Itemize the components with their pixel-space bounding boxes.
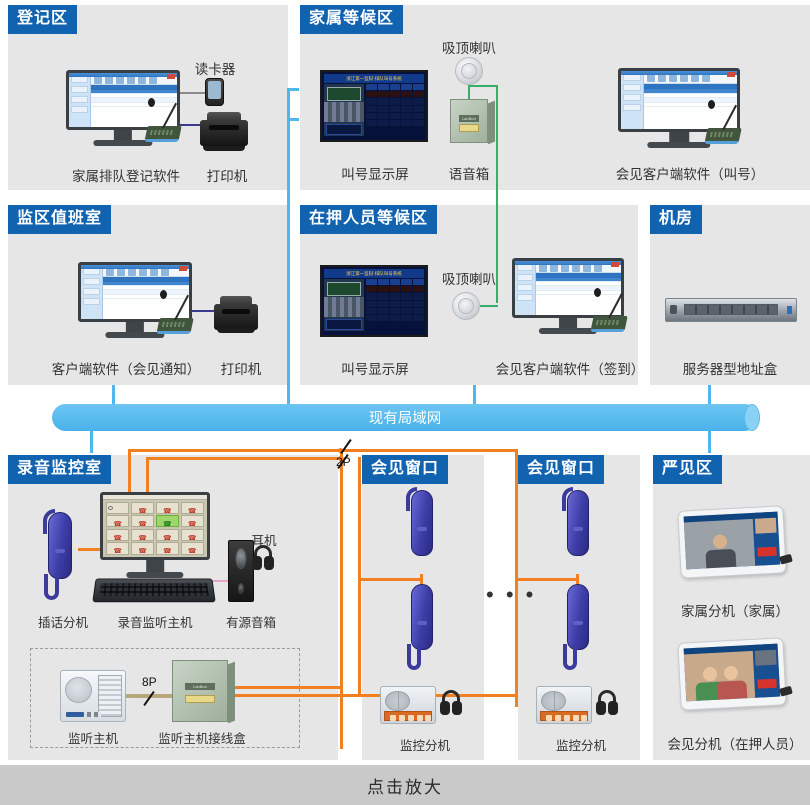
monitor-screen: ☎ ☎ ☎ ☎ ☎ ☎ ☎ ☎ ☎ ☎ ☎ ☎ ☎ ☎ ☎ — [100, 492, 210, 560]
lan-backbone-label: 现有局域网 — [369, 407, 442, 428]
printer-slot — [209, 125, 240, 130]
software-sidebar — [81, 265, 103, 319]
video-person-detainee — [704, 534, 736, 569]
caption-rack-server-address-box: 服务器型地址盒 — [660, 358, 800, 378]
phone-hook-bottom — [407, 644, 421, 669]
tablet-frame — [677, 637, 786, 710]
repeat-ellipsis: • • • — [486, 582, 536, 608]
device-desk-microphone — [592, 290, 634, 332]
recording-host-toolbar — [103, 495, 207, 500]
caption-headphone: 耳机 — [240, 530, 288, 549]
software-titlebar — [621, 71, 737, 75]
channel-tile: ☎ — [156, 542, 179, 554]
lan-link-family-waiting — [112, 385, 115, 406]
microphone-head — [160, 290, 167, 299]
video-person-family — [715, 665, 747, 700]
device-headphone-w2 — [596, 690, 618, 716]
table-row — [366, 98, 424, 104]
microphone-arm — [722, 105, 737, 131]
table-row — [366, 120, 424, 126]
channel-tile: ☎ — [131, 529, 154, 541]
table-row — [366, 293, 424, 299]
caption-call-display-detainee: 叫号显示屏 — [330, 358, 420, 378]
audio-wire-w2-feed — [515, 578, 579, 581]
channel-tile: ☎ — [181, 542, 204, 554]
caption-client-software-visit-notice: 客户端软件（会见通知） — [36, 358, 216, 378]
device-visit-extension-tablet — [677, 637, 786, 710]
monitor-base — [647, 142, 710, 148]
zone-title-family-waiting: 家属等候区 — [300, 5, 403, 34]
phone-body — [567, 490, 589, 556]
monitoring-host-dial — [65, 677, 92, 703]
server-handle — [670, 305, 677, 314]
device-visit-phone-upper-w1 — [405, 490, 439, 574]
channel-tile: ☎ — [156, 529, 179, 541]
intercom-control-panel — [540, 711, 588, 720]
device-call-display-family: 浙江第一监狱-排队叫号系统 — [320, 70, 428, 142]
device-headphone-w1 — [440, 690, 462, 716]
wire-speaker-family-drop — [468, 85, 470, 99]
audio-wire-w1-feed — [358, 578, 422, 581]
microphone-arm — [608, 293, 623, 319]
software-sidebar — [621, 71, 644, 129]
monitor-neck — [146, 560, 164, 572]
caption-voice-box: 语音箱 — [434, 163, 504, 183]
call-display-queue-table — [366, 84, 424, 136]
lan-drop-recording-room — [90, 431, 93, 453]
audio-bus-top-b — [146, 457, 342, 460]
table-row — [366, 315, 424, 321]
device-ceiling-speaker-family — [455, 57, 483, 85]
monitor-neck — [669, 132, 689, 142]
intercom-body — [380, 686, 436, 724]
software-titlebar — [81, 265, 189, 269]
software-titlebar — [69, 73, 177, 77]
hangup-button[interactable] — [757, 547, 777, 556]
channel-tile: ☎ — [156, 502, 179, 514]
caption-monitoring-host: 监听主机 — [58, 728, 128, 747]
caption-ceiling-speaker-family: 吸顶喇叭 — [428, 37, 510, 57]
channel-tile: ☎ — [106, 529, 129, 541]
device-voice-box: LanBon — [450, 99, 488, 143]
keyboard-body — [92, 578, 215, 602]
device-call-display-detainee: 浙江第一监狱-排队叫号系统 — [320, 265, 428, 337]
voice-box-face: LanBon — [450, 99, 488, 143]
channel-tile — [106, 502, 129, 514]
audio-run-junction-out — [226, 694, 518, 697]
microphone-head — [148, 98, 155, 107]
zone-title-ward-duty-room: 监区值班室 — [8, 205, 111, 234]
printer-slot — [222, 309, 250, 314]
tablet-sidebar — [753, 644, 780, 698]
channel-tile: ☎ — [181, 502, 204, 514]
voice-box-side — [488, 101, 495, 145]
lan-link-duty-room-drop — [287, 176, 290, 406]
printer-foot — [217, 328, 256, 333]
caption-visit-extension-tablet: 会见分机（在押人员） — [657, 733, 810, 753]
device-visit-phone-lower-w1 — [405, 584, 439, 668]
audio-bus-top-a — [128, 449, 342, 452]
headphone-earcup-right — [264, 556, 274, 570]
device-printer-duty-room — [214, 296, 258, 330]
wire-speaker-family-run — [468, 85, 498, 87]
caption-intercom-wall-phone: 插话分机 — [28, 612, 98, 631]
device-monitoring-host — [60, 670, 126, 722]
device-intercom-wall-phone — [42, 512, 78, 598]
device-printer-registration — [200, 112, 248, 148]
call-display-video-panel — [324, 84, 364, 136]
caption-monitor-extension-w1: 监控分机 — [390, 735, 460, 754]
printer-foot — [203, 146, 245, 151]
speaker-outer — [452, 292, 480, 320]
channel-tile: ☎ — [181, 515, 204, 527]
card-reader-body — [205, 78, 224, 106]
call-display-header: 浙江第一监狱-排队叫号系统 — [324, 74, 424, 83]
monitoring-host-body — [60, 670, 126, 722]
call-display-video-panel — [324, 279, 364, 331]
lan-drop-strict-visit — [708, 431, 711, 453]
caption-printer-registration: 打印机 — [198, 165, 256, 185]
call-display-header: 浙江第一监狱-排队叫号系统 — [324, 269, 424, 278]
audio-run-junction-out2 — [226, 686, 340, 689]
zone-title-detainee-waiting: 在押人员等候区 — [300, 205, 437, 234]
caption-call-display-family: 叫号显示屏 — [330, 163, 420, 183]
speaker-woofer — [238, 583, 244, 594]
table-row — [366, 286, 424, 292]
phone-body — [411, 490, 433, 556]
device-recording-monitor-host: ☎ ☎ ☎ ☎ ☎ ☎ ☎ ☎ ☎ ☎ ☎ ☎ ☎ ☎ ☎ — [100, 492, 210, 580]
lan-bar-endcap — [744, 404, 760, 431]
device-visit-phone-lower-w2 — [561, 584, 595, 668]
headphone-earcup-left — [596, 701, 606, 715]
intercom-grill — [385, 691, 410, 711]
device-monitor-extension-w1 — [380, 686, 436, 724]
lan-link-registration-stub — [287, 88, 299, 91]
topology-diagram: 登记区 家属排队登记软件 读卡器 — [0, 0, 810, 805]
monitor-base — [539, 328, 597, 334]
software-titlebar — [515, 261, 621, 265]
monitoring-host-indicator — [66, 712, 84, 717]
printer-body — [200, 120, 248, 146]
caption-printer-duty-room: 打印机 — [212, 358, 270, 378]
headphone-earcup-left — [440, 701, 450, 715]
tablet-frame — [677, 505, 786, 578]
intercom-body — [536, 686, 592, 724]
junction-box-logo: LanBon — [185, 683, 215, 690]
table-header-row — [366, 279, 424, 285]
software-sidebar — [515, 261, 536, 315]
device-card-reader — [205, 78, 224, 106]
intercom-grill — [541, 691, 566, 711]
powered-speaker-body — [228, 540, 254, 602]
call-display-body — [324, 279, 424, 331]
table-row — [366, 308, 424, 314]
click-to-zoom-label: 点击放大 — [367, 773, 443, 798]
speaker-tweeter — [235, 548, 246, 568]
lan-backbone-bar: 现有局域网 — [52, 404, 758, 431]
software-sidebar — [69, 73, 91, 127]
monitor-base — [93, 140, 152, 146]
device-visit-phone-upper-w2 — [561, 490, 595, 574]
speaker-outer — [455, 57, 483, 85]
device-desk-microphone — [146, 100, 188, 142]
device-family-extension-tablet — [677, 505, 786, 578]
microphone-head — [708, 100, 715, 109]
audio-run-top-to-window2 — [340, 449, 518, 452]
table-row — [366, 301, 424, 307]
click-to-zoom-bar[interactable]: 点击放大 — [0, 765, 810, 805]
call-display-queue-table — [366, 279, 424, 331]
monitoring-host-buttons — [87, 712, 101, 717]
headphone-earcup-right — [452, 701, 462, 715]
tablet-sidebar — [753, 512, 780, 566]
monitor-neck — [559, 318, 577, 328]
table-row — [366, 113, 424, 119]
intercom-control-panel — [384, 711, 432, 720]
audio-run-down-window1b — [358, 457, 361, 697]
recording-host-channel-grid: ☎ ☎ ☎ ☎ ☎ ☎ ☎ ☎ ☎ ☎ ☎ ☎ ☎ ☎ ☎ — [106, 502, 204, 555]
zone-title-registration: 登记区 — [8, 5, 77, 34]
tablet-screen — [684, 644, 780, 702]
channel-tile: ☎ — [181, 529, 204, 541]
voice-box-label — [459, 124, 479, 132]
caption-visit-client-software-calling: 会见客户端软件（叫号） — [600, 163, 780, 183]
speaker-inner — [458, 298, 474, 314]
lan-link-registration-vertical — [287, 88, 290, 176]
zone-title-recording-control-room: 录音监控室 — [8, 455, 111, 484]
device-keyboard — [94, 578, 214, 602]
caption-monitor-extension-w2: 监控分机 — [546, 735, 616, 754]
device-powered-speaker — [228, 540, 254, 602]
caption-ceiling-speaker-detainee: 吸顶喇叭 — [428, 268, 510, 288]
lan-link-server-room-drop — [708, 385, 711, 406]
channel-tile: ☎ — [131, 542, 154, 554]
table-row — [366, 91, 424, 97]
zone-title-visit-window-2: 会见窗口 — [518, 455, 604, 484]
keyboard-keys — [99, 583, 209, 596]
junction-box-side — [228, 662, 235, 724]
cable-label-8p: 8P — [142, 675, 157, 689]
device-monitor-extension-w2 — [536, 686, 592, 724]
phone-hook-bottom — [44, 574, 58, 600]
server-face — [665, 298, 797, 322]
zone-title-visit-window-1: 会见窗口 — [362, 455, 448, 484]
wire-monitor-to-card-reader — [180, 92, 206, 94]
printer-body — [214, 304, 258, 330]
zone-title-strict-visit-area: 严见区 — [653, 455, 722, 484]
server-drive-bays — [684, 304, 778, 315]
channel-tile: ☎ — [106, 542, 129, 554]
channel-tile: ☎ — [106, 515, 129, 527]
table-header-row — [366, 84, 424, 90]
phone-body — [567, 584, 589, 650]
device-desk-microphone — [706, 102, 748, 144]
lan-link-detainee-drop — [473, 385, 476, 406]
lan-link-registration-stub2 — [287, 118, 299, 121]
caption-powered-speaker: 有源音箱 — [216, 612, 286, 631]
card-reader-screen — [208, 81, 222, 98]
voice-box-logo: LanBon — [459, 115, 479, 122]
headphone-earcup-right — [608, 701, 618, 715]
call-display-body — [324, 84, 424, 136]
zone-title-server-room: 机房 — [650, 205, 702, 234]
monitor-neck — [114, 130, 132, 140]
wire-speaker-detainee-run — [480, 305, 498, 307]
monitoring-host-channel-strip — [98, 675, 122, 717]
channel-tile-active: ☎ — [156, 515, 179, 527]
caption-recording-monitor-host: 录音监听主机 — [103, 612, 207, 631]
audio-run-down-window1 — [340, 449, 343, 749]
channel-tile: ☎ — [131, 502, 154, 514]
caption-family-extension-tablet: 家属分机（家属） — [665, 600, 805, 620]
tablet-screen — [684, 512, 780, 570]
microphone-head — [594, 288, 601, 297]
server-status-led — [787, 306, 792, 314]
monitor-neck — [126, 322, 144, 332]
device-rack-server-address-box — [665, 298, 797, 322]
phone-body — [48, 512, 71, 579]
caption-monitoring-host-junction-box: 监听主机接线盒 — [148, 728, 256, 747]
channel-tile: ☎ — [131, 515, 154, 527]
device-desk-microphone — [158, 292, 200, 334]
caption-family-queue-registration-software: 家属排队登记软件 — [46, 165, 206, 185]
table-row — [366, 106, 424, 112]
headphone-earcup-left — [252, 556, 262, 570]
caption-visit-client-software-signin: 会见客户端软件（签到） — [480, 358, 660, 378]
phone-hook-bottom — [563, 644, 577, 669]
device-ceiling-speaker-detainee — [452, 292, 480, 320]
microphone-arm — [174, 295, 189, 321]
caption-card-reader: 读卡器 — [180, 58, 250, 78]
device-monitoring-host-junction-box: LanBon — [172, 660, 228, 722]
microphone-arm — [162, 103, 177, 129]
monitor-base — [105, 332, 164, 338]
phone-body — [411, 584, 433, 650]
junction-box-label — [185, 695, 215, 703]
hangup-button[interactable] — [757, 679, 777, 688]
junction-box-face: LanBon — [172, 660, 228, 722]
speaker-inner — [461, 63, 477, 79]
